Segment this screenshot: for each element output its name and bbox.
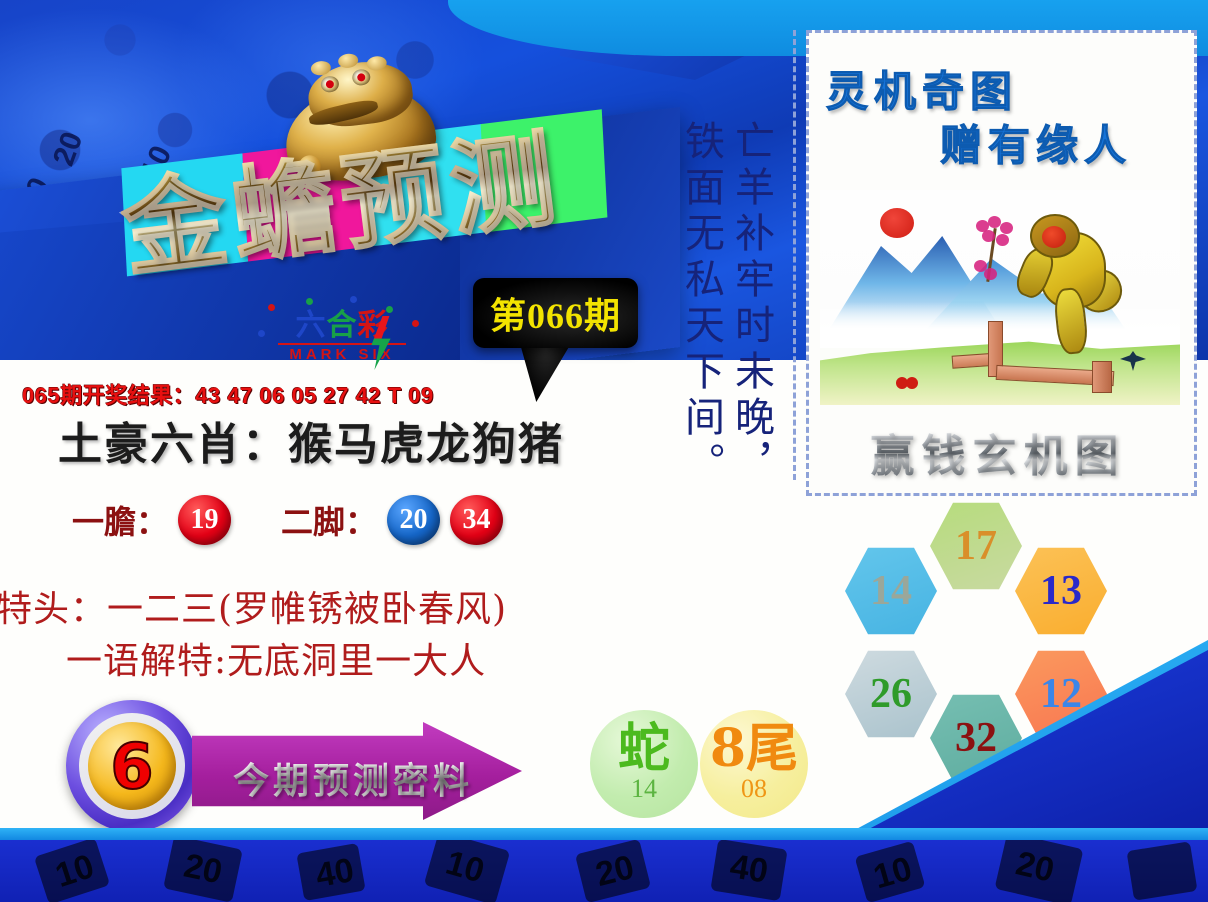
poster-root: 10 20 10 20 金蟾预测 六合彩 M — [0, 0, 1208, 902]
tail-bubble-yellow-char: 8尾 — [710, 725, 798, 773]
brand-en-label: MARK SIX — [262, 346, 422, 363]
ink-painting — [820, 190, 1180, 405]
poem-column-left: 铁面无私天下间。 — [672, 120, 730, 488]
issue-badge: 第066期 — [473, 278, 638, 348]
page-title: 金蟾预测 — [113, 94, 568, 297]
tetou-line: 特头：一二三(罗帷锈被卧春风) — [0, 580, 507, 632]
pick-one-ball: 19 — [178, 495, 231, 545]
jiete-line: 一语解特:无底洞里一大人 — [66, 632, 486, 684]
pick-two-ball-a: 20 — [387, 495, 440, 545]
bottom-band: 10 20 40 10 20 40 10 20 — [0, 840, 1208, 902]
highlight-ball-6: 6 — [66, 700, 198, 832]
zodiac-bubble-green-char: 蛇 — [618, 725, 670, 773]
previous-result-line: 065期开奖结果：43 47 06 05 27 42 T 09 — [22, 378, 434, 410]
poem-divider — [793, 30, 796, 480]
berries-icon — [896, 377, 920, 389]
tail-bubble-yellow-number: 08 — [741, 775, 767, 803]
mark-six-logo: 六合彩 MARK SIX — [262, 310, 422, 374]
zodiac-bubble-green-number: 14 — [631, 775, 657, 803]
blossom-tree-icon — [970, 220, 1016, 282]
ball-number-label: 6 — [110, 730, 153, 803]
bottom-accent-line — [0, 828, 1208, 840]
sun-icon — [880, 208, 914, 238]
picture-heading-line-2: 赠有缘人 — [940, 112, 1132, 173]
bg-number: 40 — [727, 847, 770, 891]
picks-row: 一膽： 19 二脚： 20 34 — [72, 495, 503, 545]
six-zodiac-line: 土豪六肖：猴马虎龙狗猪 — [58, 408, 564, 472]
tail-bubble-yellow: 8尾 08 — [700, 710, 808, 818]
fence-post-right — [1092, 361, 1112, 393]
zodiac-bubble-green: 蛇 14 — [590, 710, 698, 818]
prediction-arrow-label: 今期预测密料 — [218, 752, 488, 804]
pick-two-ball-b: 34 — [450, 495, 503, 545]
pick-two-label: 二脚： — [281, 497, 377, 543]
pick-one-label: 一膽： — [72, 497, 168, 543]
bg-number: 20 — [180, 846, 225, 892]
picture-heading-line-1: 灵机奇图 — [826, 58, 1018, 119]
poem-column-right: 亡羊补牢时未晚， — [722, 120, 780, 488]
bg-number: 40 — [313, 851, 357, 896]
brand-char-1: 六 — [296, 309, 327, 342]
ball-core: 6 — [88, 722, 176, 810]
picture-bottom-title: 赢钱玄机图 — [818, 420, 1178, 484]
brand-char-2: 合 — [327, 309, 358, 342]
issue-badge-label: 第066期 — [490, 287, 621, 339]
monkey-icon — [1016, 212, 1126, 352]
